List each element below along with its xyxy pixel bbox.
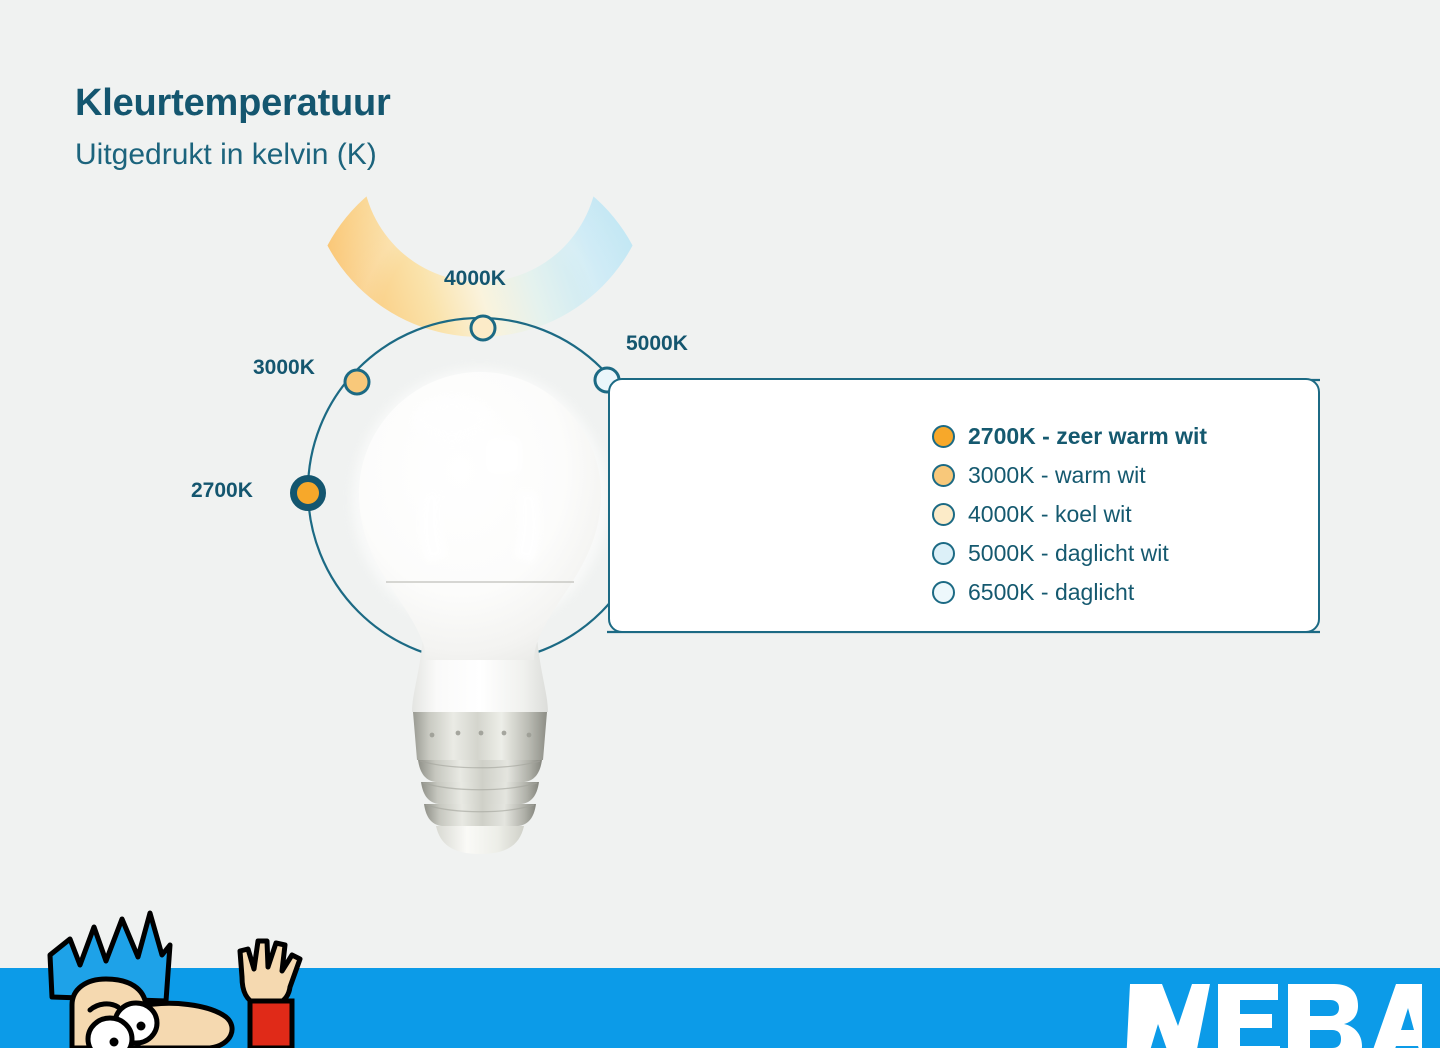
mascot-hand (240, 941, 300, 1006)
mascot-pupil-right (137, 1022, 146, 1031)
bulb-screw-threads (418, 760, 542, 826)
bulb-base-tip (436, 826, 524, 854)
mascot-pupil-left (110, 1038, 119, 1047)
legend-swatch-icon (932, 542, 955, 565)
legend-swatch-icon (932, 581, 955, 604)
mascot-illustration (10, 905, 370, 1048)
legend-panel: 2700K - zeer warm wit3000K - warm wit400… (608, 378, 1320, 633)
legend-item-label: 5000K - daglicht wit (968, 540, 1169, 567)
marker-4000k[interactable] (471, 316, 495, 340)
kelvin-label-2700k: 2700K (191, 479, 253, 503)
legend-item[interactable]: 5000K - daglicht wit (932, 534, 1207, 573)
legend-item-label: 3000K - warm wit (968, 462, 1146, 489)
legend-item-label: 4000K - koel wit (968, 501, 1132, 528)
legend-item-label: 6500K - daglicht (968, 579, 1134, 606)
legend-item[interactable]: 4000K - koel wit (932, 495, 1207, 534)
mascot-sleeve (250, 1001, 292, 1048)
kelvin-label-4000k: 4000K (444, 267, 506, 291)
legend-swatch-icon (932, 464, 955, 487)
legend-item[interactable]: 2700K - zeer warm wit (932, 417, 1207, 456)
weba-logo (1122, 968, 1422, 1048)
light-bulb-illustration (352, 368, 608, 854)
kelvin-label-3000k: 3000K (253, 356, 315, 380)
legend-item-label: 2700K - zeer warm wit (968, 423, 1207, 450)
legend-list: 2700K - zeer warm wit3000K - warm wit400… (932, 417, 1207, 612)
kelvin-label-5000k: 5000K (626, 332, 688, 356)
weba-wordmark (1126, 984, 1422, 1048)
marker-2700k[interactable] (294, 479, 323, 508)
marker-3000k[interactable] (345, 370, 369, 394)
legend-swatch-icon (932, 503, 955, 526)
color-temperature-diagram: 2700K 3000K 4000K 5000K 6500K 2700K - ze… (0, 0, 1440, 960)
legend-item[interactable]: 6500K - daglicht (932, 573, 1207, 612)
legend-item[interactable]: 3000K - warm wit (932, 456, 1207, 495)
legend-swatch-icon (932, 425, 955, 448)
